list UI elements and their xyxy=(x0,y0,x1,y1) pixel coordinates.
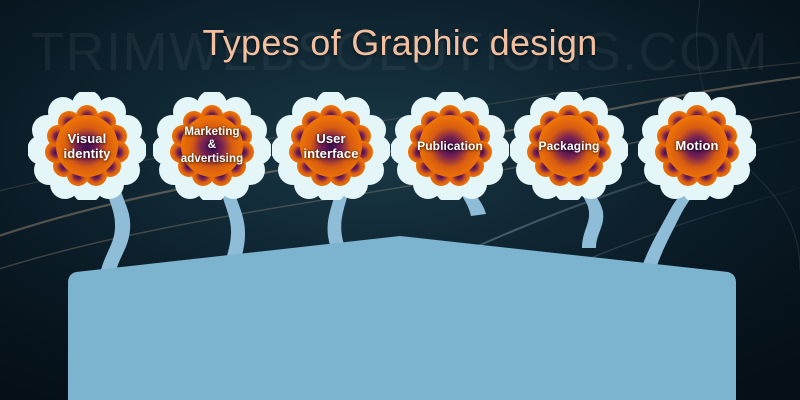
node-marketing-advertising[interactable]: Marketing & advertising xyxy=(153,92,271,200)
node-label: Visual identity xyxy=(28,92,146,200)
node-visual-identity[interactable]: Visual identity xyxy=(28,92,146,200)
node-packaging[interactable]: Packaging xyxy=(510,92,628,200)
node-publication[interactable]: Publication xyxy=(391,92,509,200)
node-motion[interactable]: Motion xyxy=(638,92,756,200)
node-label: User interface xyxy=(272,92,390,200)
node-label: Motion xyxy=(638,92,756,200)
base-platform xyxy=(68,236,736,400)
page-title: Types of Graphic design xyxy=(0,22,800,64)
node-label: Packaging xyxy=(510,92,628,200)
node-user-interface[interactable]: User interface xyxy=(272,92,390,200)
infographic-canvas: TRIMWEBSOLUTIONS.COM Types of Graphic de… xyxy=(0,0,800,400)
node-label: Marketing & advertising xyxy=(153,92,271,200)
node-label: Publication xyxy=(391,92,509,200)
